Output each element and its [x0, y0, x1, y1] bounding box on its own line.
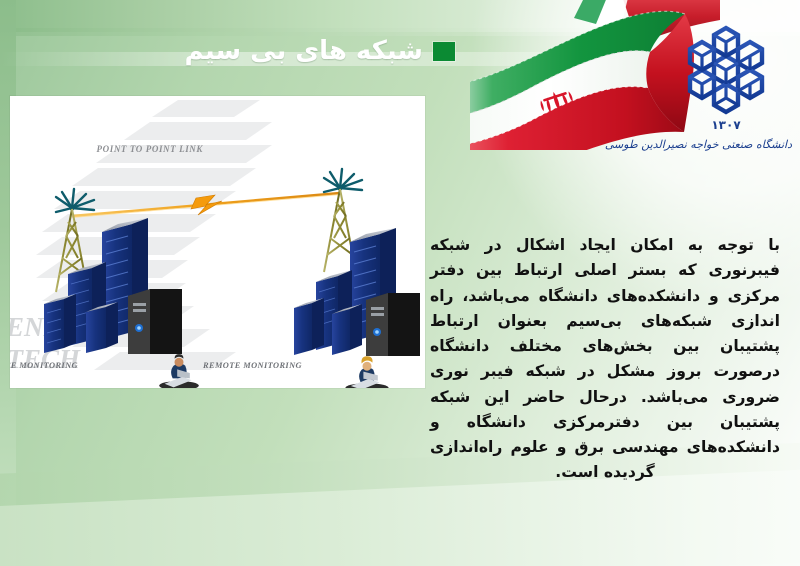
title-bullet-icon	[433, 42, 455, 61]
logo-year: ١٣٠٧	[660, 118, 792, 132]
logo-university-name: دانشگاه صنعتی خواجه نصیرالدین طوسی	[660, 138, 792, 151]
university-logo: ١٣٠٧ دانشگاه صنعتی خواجه نصیرالدین طوسی	[660, 22, 792, 162]
network-diagram: PHOENIX HITECH POINT TO POINT LINK	[10, 96, 425, 388]
remote-label: REMOTE MONITORING	[202, 361, 302, 370]
link-label: POINT TO POINT LINK	[97, 144, 204, 154]
server-left	[128, 289, 182, 354]
page-title: شبکه های بی سیم	[185, 36, 423, 66]
server-right	[366, 293, 420, 356]
source-label: SOURCE MONITORING	[10, 361, 78, 370]
body-paragraph-block: با توجه به امکان ایجاد اشکال در شبکه فیب…	[430, 233, 780, 486]
slide-root: ١٣٠٧ دانشگاه صنعتی خواجه نصیرالدین طوسی …	[0, 0, 800, 566]
body-paragraph: با توجه به امکان ایجاد اشکال در شبکه فیب…	[430, 233, 780, 486]
network-diagram-panel: PHOENIX HITECH POINT TO POINT LINK	[10, 96, 425, 388]
slide-title: شبکه های بی سیم	[185, 36, 455, 66]
